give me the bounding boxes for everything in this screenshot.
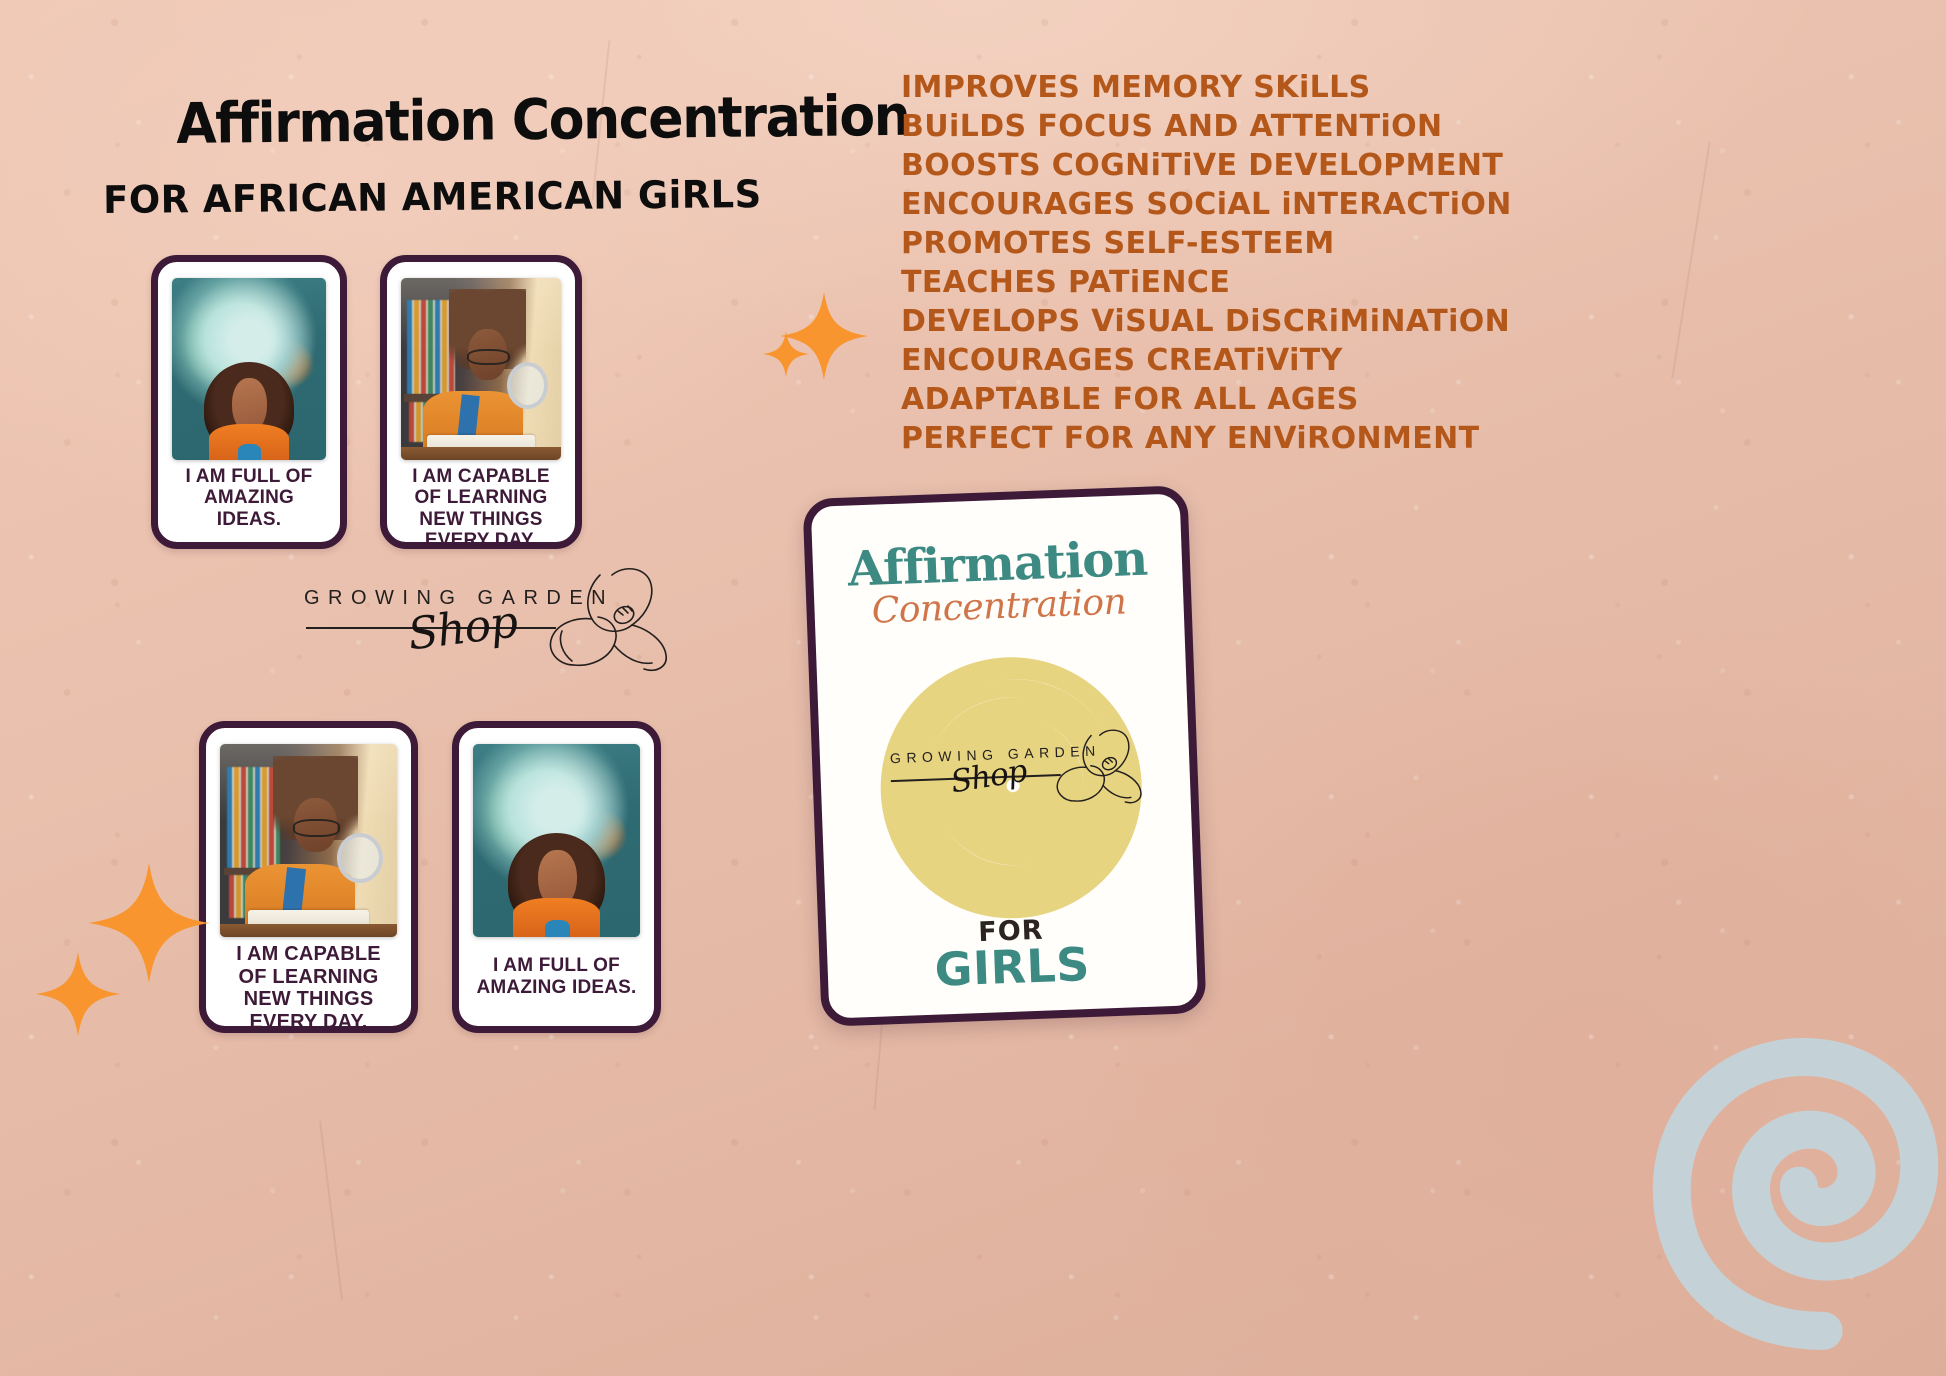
card-caption: I AM FULL OF AMAZING IDEAS. [473,937,640,1016]
product-box-mockup: Affirmation Concentration GROWING GARDEN… [802,485,1206,1027]
benefit-item: ENCOURAGES SOCiAL iNTERACTiON [901,185,1461,224]
benefit-item: BUiLDS FOCUS AND ATTENTiON [901,107,1461,146]
benefit-item: ADAPTABLE FOR ALL AGES [901,380,1461,419]
page-title: Affirmation Concentration [176,84,910,157]
card-caption: I AM CAPABLE OF LEARNING NEW THINGS EVER… [401,460,561,558]
benefit-item: ENCOURAGES CREATiViTY [901,341,1461,380]
affirmation-card: I AM FULL OF AMAZING IDEAS. [452,721,661,1033]
benefit-item: PROMOTES SELF-ESTEEM [901,224,1461,263]
brand-logo: GROWING GARDEN Shop [300,565,680,680]
benefit-item: TEACHES PATiENCE [901,263,1461,302]
spiral-swirl-icon [1652,1024,1946,1354]
benefit-item: DEVELOPS ViSUAL DiSCRiMiNATiON [901,302,1461,341]
flower-line-art-icon [528,561,678,676]
flower-line-art-icon [1039,723,1150,811]
affirmation-card: I AM CAPABLE OF LEARNING NEW THINGS EVER… [199,721,418,1033]
card-artwork-magnifier-girl [220,744,397,937]
affirmation-card: I AM FULL OF AMAZING IDEAS. [151,255,347,549]
page-subtitle: FOR AFRICAN AMERICAN GiRLS [103,172,762,222]
benefits-list: IMPROVES MEMORY SKiLLS BUiLDS FOCUS AND … [901,68,1461,458]
card-artwork-magnifier-girl [401,278,561,460]
four-point-sparkle-icon [34,950,122,1038]
benefit-item: PERFECT FOR ANY ENViRONMENT [901,419,1461,458]
card-artwork-globe-girl [473,744,640,937]
affirmation-card: I AM CAPABLE OF LEARNING NEW THINGS EVER… [380,255,582,549]
card-caption: I AM FULL OF AMAZING IDEAS. [172,460,326,536]
benefit-item: IMPROVES MEMORY SKiLLS [901,68,1461,107]
benefit-item: BOOSTS COGNiTiVE DEVELOPMENT [901,146,1461,185]
box-brand-logo: GROWING GARDEN Shop [881,727,1147,847]
card-artwork-globe-girl [172,278,326,460]
four-point-sparkle-icon [762,330,810,378]
card-caption: I AM CAPABLE OF LEARNING NEW THINGS EVER… [220,937,397,1039]
